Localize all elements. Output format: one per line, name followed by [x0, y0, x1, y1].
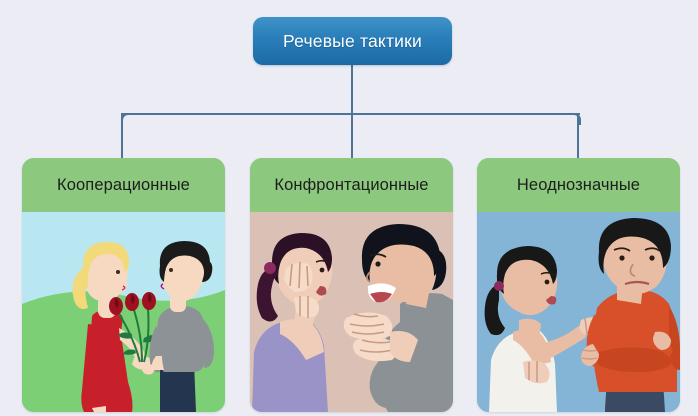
- root-node-label: Речевые тактики: [283, 31, 422, 52]
- category-card-cooperative[interactable]: Кооперационные: [22, 158, 225, 412]
- illustration-man-giving-red-roses-to-woman: [22, 212, 225, 412]
- category-label-1: Кооперационные: [57, 176, 190, 195]
- category-card-confrontational[interactable]: Конфронтационные: [250, 158, 453, 412]
- connector-corner-left: [121, 113, 133, 125]
- illustration-woman-pleading-man-with-crossed-arms: [477, 212, 680, 412]
- connector-corner-right: [569, 113, 581, 125]
- category-card-header: Неоднозначные: [477, 158, 680, 212]
- root-node[interactable]: Речевые тактики: [253, 17, 452, 65]
- category-label-3: Неоднозначные: [517, 176, 640, 195]
- category-card-ambiguous[interactable]: Неоднозначные: [477, 158, 680, 412]
- diagram-canvas: Речевые тактики Кооперационные: [0, 0, 698, 416]
- connector-root-vertical: [351, 63, 353, 115]
- illustration-man-shouting-at-woman-covering-ears: [250, 212, 453, 412]
- connector-drop-2: [351, 113, 353, 160]
- category-card-header: Конфронтационные: [250, 158, 453, 212]
- category-label-2: Конфронтационные: [274, 176, 428, 195]
- category-card-header: Кооперационные: [22, 158, 225, 212]
